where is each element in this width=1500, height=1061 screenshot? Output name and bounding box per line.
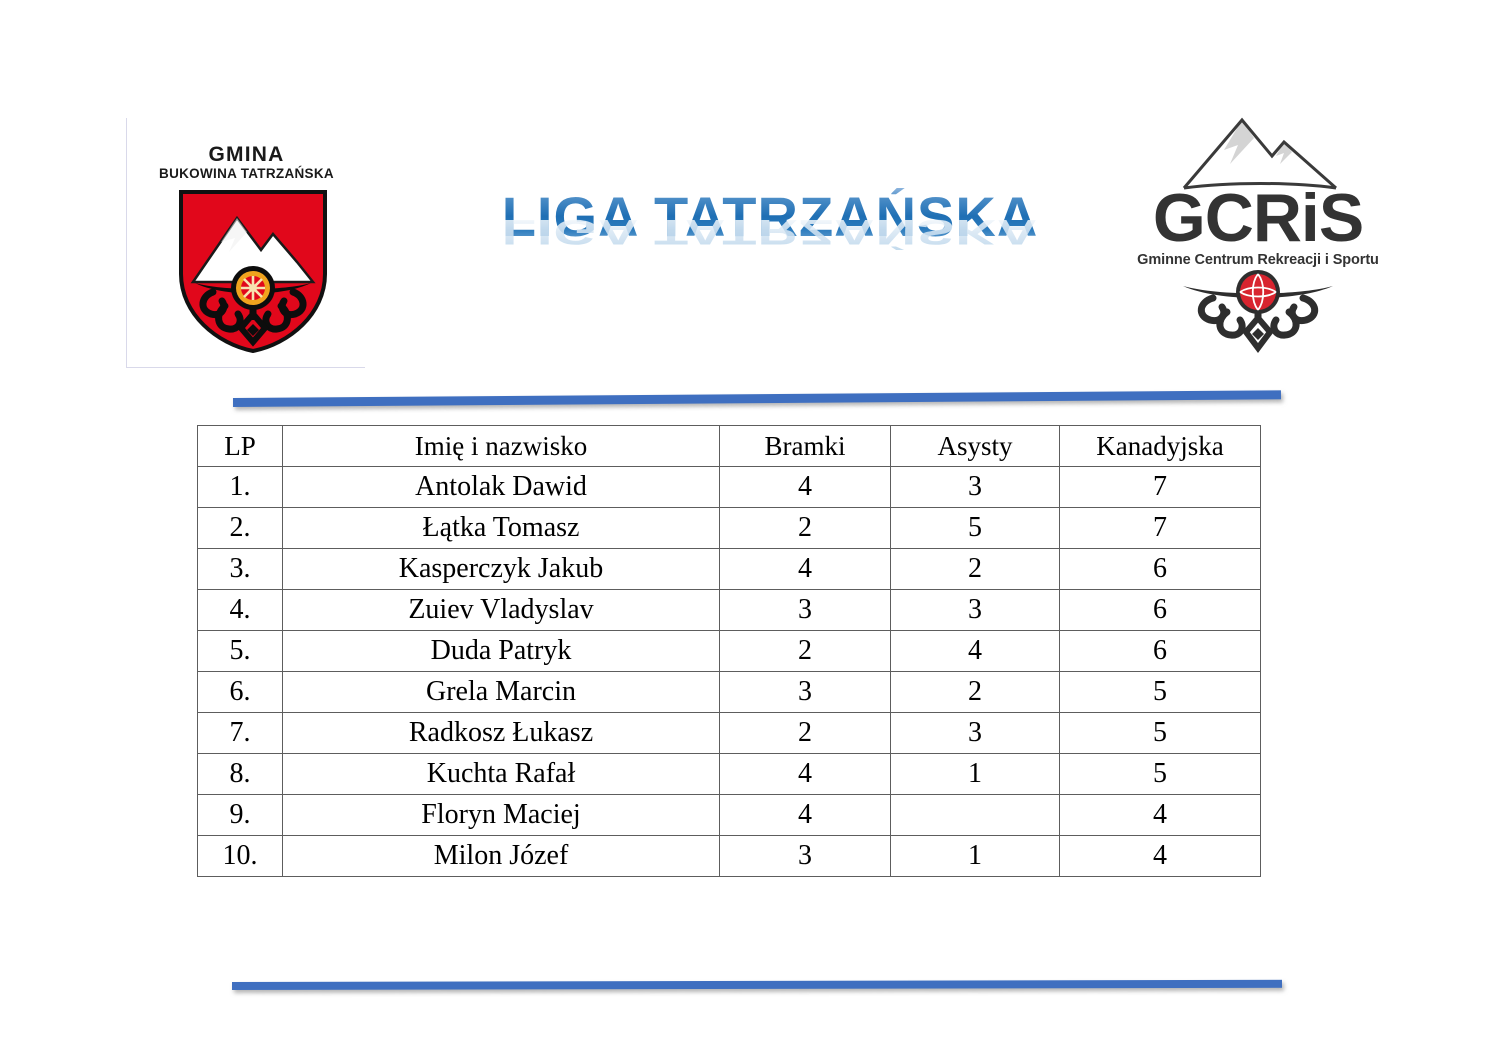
cell-assists bbox=[891, 795, 1060, 836]
cell-lp: 7. bbox=[198, 713, 283, 754]
cell-canadian: 5 bbox=[1060, 754, 1261, 795]
cell-assists: 5 bbox=[891, 508, 1060, 549]
cell-canadian: 6 bbox=[1060, 549, 1261, 590]
column-header-lp: LP bbox=[198, 426, 283, 467]
table-row: 4.Zuiev Vladyslav336 bbox=[198, 590, 1261, 631]
cell-canadian: 4 bbox=[1060, 836, 1261, 877]
gcris-subtitle: Gminne Centrum Rekreacji i Sportu bbox=[1122, 252, 1394, 268]
column-header-assists: Asysty bbox=[891, 426, 1060, 467]
cell-lp: 5. bbox=[198, 631, 283, 672]
standings-table-body: 1.Antolak Dawid4372.Łątka Tomasz2573.Kas… bbox=[198, 467, 1261, 877]
cell-player-name: Kuchta Rafał bbox=[283, 754, 720, 795]
cell-goals: 2 bbox=[720, 631, 891, 672]
cell-lp: 3. bbox=[198, 549, 283, 590]
cell-goals: 4 bbox=[720, 549, 891, 590]
cell-canadian: 7 bbox=[1060, 508, 1261, 549]
cell-canadian: 6 bbox=[1060, 590, 1261, 631]
slide-canvas: GMINA BUKOWINA TATRZAŃSKA bbox=[0, 0, 1500, 1061]
table-row: 8.Kuchta Rafał415 bbox=[198, 754, 1261, 795]
gmina-logo-line1: GMINA bbox=[127, 144, 366, 166]
cell-lp: 8. bbox=[198, 754, 283, 795]
cell-lp: 2. bbox=[198, 508, 283, 549]
cell-goals: 2 bbox=[720, 713, 891, 754]
cell-goals: 4 bbox=[720, 467, 891, 508]
cell-goals: 4 bbox=[720, 754, 891, 795]
slide-title-block: LIGA TATRZAŃSKA LIGA TATRZAŃSKA bbox=[500, 188, 1040, 298]
cell-player-name: Kasperczyk Jakub bbox=[283, 549, 720, 590]
column-header-canadian: Kanadyjska bbox=[1060, 426, 1261, 467]
gmina-logo-placeholder: GMINA BUKOWINA TATRZAŃSKA bbox=[126, 118, 365, 368]
cell-canadian: 5 bbox=[1060, 713, 1261, 754]
cell-lp: 6. bbox=[198, 672, 283, 713]
page-title-reflection: LIGA TATRZAŃSKA bbox=[500, 214, 1040, 250]
gmina-logo-wordmark: GMINA BUKOWINA TATRZAŃSKA bbox=[127, 144, 366, 183]
cell-assists: 2 bbox=[891, 549, 1060, 590]
table-row: 6.Grela Marcin325 bbox=[198, 672, 1261, 713]
cell-player-name: Grela Marcin bbox=[283, 672, 720, 713]
table-header-row: LP Imię i nazwisko Bramki Asysty Kanadyj… bbox=[198, 426, 1261, 467]
cell-canadian: 7 bbox=[1060, 467, 1261, 508]
cell-player-name: Radkosz Łukasz bbox=[283, 713, 720, 754]
table-row: 3.Kasperczyk Jakub426 bbox=[198, 549, 1261, 590]
cell-assists: 3 bbox=[891, 467, 1060, 508]
cell-player-name: Antolak Dawid bbox=[283, 467, 720, 508]
gcris-wordmark: GCRiS bbox=[1122, 184, 1394, 252]
cell-goals: 3 bbox=[720, 836, 891, 877]
cell-canadian: 6 bbox=[1060, 631, 1261, 672]
table-row: 7.Radkosz Łukasz235 bbox=[198, 713, 1261, 754]
decorative-rule-top bbox=[233, 390, 1281, 407]
cell-assists: 2 bbox=[891, 672, 1060, 713]
table-row: 10.Milon Józef314 bbox=[198, 836, 1261, 877]
column-header-name: Imię i nazwisko bbox=[283, 426, 720, 467]
cell-goals: 3 bbox=[720, 672, 891, 713]
cell-player-name: Zuiev Vladyslav bbox=[283, 590, 720, 631]
cell-assists: 1 bbox=[891, 836, 1060, 877]
cell-canadian: 4 bbox=[1060, 795, 1261, 836]
cell-assists: 3 bbox=[891, 590, 1060, 631]
cell-goals: 2 bbox=[720, 508, 891, 549]
cell-assists: 4 bbox=[891, 631, 1060, 672]
column-header-goals: Bramki bbox=[720, 426, 891, 467]
coat-of-arms-shield-icon bbox=[177, 188, 329, 354]
table-row: 5.Duda Patryk246 bbox=[198, 631, 1261, 672]
cell-lp: 10. bbox=[198, 836, 283, 877]
cell-player-name: Duda Patryk bbox=[283, 631, 720, 672]
cell-lp: 1. bbox=[198, 467, 283, 508]
cell-goals: 3 bbox=[720, 590, 891, 631]
cell-assists: 1 bbox=[891, 754, 1060, 795]
gmina-logo-line2: BUKOWINA TATRZAŃSKA bbox=[127, 166, 366, 183]
gcris-logo: GCRiS Gminne Centrum Rekreacji i Sportu bbox=[1122, 112, 1394, 352]
cell-goals: 4 bbox=[720, 795, 891, 836]
cell-lp: 9. bbox=[198, 795, 283, 836]
table-row: 2.Łątka Tomasz257 bbox=[198, 508, 1261, 549]
decorative-rule-bottom bbox=[232, 980, 1282, 990]
cell-player-name: Milon Józef bbox=[283, 836, 720, 877]
cell-player-name: Floryn Maciej bbox=[283, 795, 720, 836]
cell-assists: 3 bbox=[891, 713, 1060, 754]
cell-player-name: Łątka Tomasz bbox=[283, 508, 720, 549]
cell-lp: 4. bbox=[198, 590, 283, 631]
table-row: 1.Antolak Dawid437 bbox=[198, 467, 1261, 508]
table-row: 9.Floryn Maciej44 bbox=[198, 795, 1261, 836]
standings-table: LP Imię i nazwisko Bramki Asysty Kanadyj… bbox=[197, 425, 1261, 877]
cell-canadian: 5 bbox=[1060, 672, 1261, 713]
folk-ornament-with-ball-icon bbox=[1177, 270, 1339, 354]
